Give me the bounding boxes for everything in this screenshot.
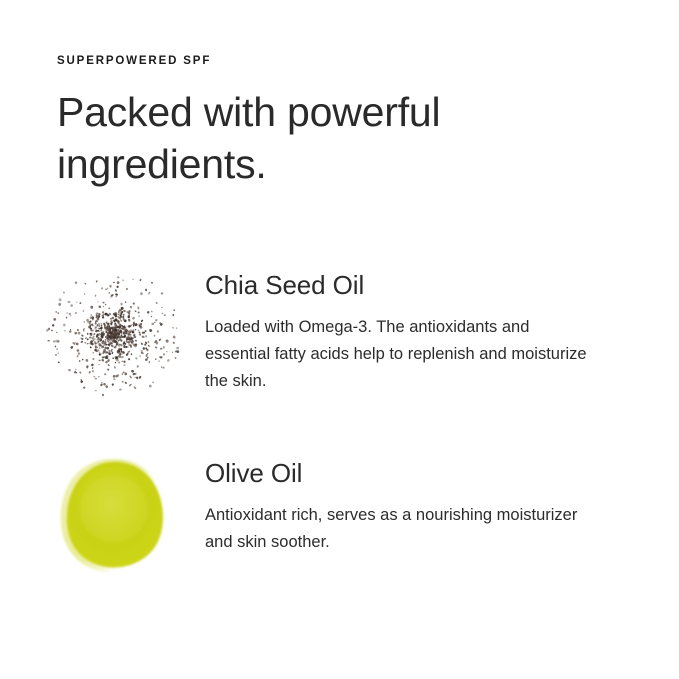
chia-seed (116, 285, 119, 288)
chia-seed (166, 351, 168, 353)
chia-seed (99, 326, 103, 330)
chia-seed (87, 343, 89, 345)
chia-seed (174, 357, 176, 359)
chia-seed (107, 368, 110, 371)
chia-seed (93, 376, 96, 378)
chia-seed (80, 380, 83, 383)
chia-seed (132, 279, 134, 281)
chia-seed (136, 365, 139, 368)
chia-seed (82, 359, 84, 361)
chia-seed (83, 321, 85, 323)
chia-seed (138, 315, 140, 317)
chia-seed (172, 341, 175, 344)
chia-seed (58, 303, 61, 307)
ingredient-description: Antioxidant rich, serves as a nourishing… (205, 502, 597, 555)
chia-seed (100, 329, 102, 332)
chia-seed (172, 327, 174, 329)
chia-seed (121, 373, 123, 375)
chia-seed (87, 333, 89, 335)
chia-seed (151, 316, 152, 318)
chia-seed (176, 327, 178, 329)
chia-seed (102, 394, 104, 397)
chia-seed (137, 329, 139, 331)
chia-seed (109, 285, 112, 288)
chia-seed (97, 301, 99, 303)
chia-seed (162, 366, 164, 369)
chia-seed (114, 362, 116, 364)
chia-seed (161, 366, 163, 368)
chia-seed (74, 331, 78, 335)
chia-seed (121, 307, 124, 310)
chia-seed (121, 360, 123, 362)
chia-seed (101, 287, 104, 290)
chia-seed (80, 341, 83, 344)
chia-seed (146, 354, 148, 357)
chia-seed (176, 347, 179, 350)
chia-seed (89, 336, 91, 338)
chia-seed (154, 321, 156, 323)
chia-seed (163, 353, 166, 356)
chia-seed (130, 353, 132, 355)
ingredient-title: Chia Seed Oil (205, 270, 640, 301)
chia-seed (70, 304, 73, 307)
chia-seed (118, 361, 120, 363)
chia-seed (70, 346, 74, 350)
chia-seed (125, 301, 127, 303)
chia-seed (166, 358, 170, 362)
chia-seed (138, 332, 140, 334)
chia-seed (149, 385, 152, 388)
chia-seed (98, 360, 100, 362)
chia-seed (58, 298, 62, 302)
chia-seed (139, 355, 141, 357)
chia-seed (135, 357, 138, 360)
ingredient-thumbnail (40, 452, 205, 582)
chia-seed (96, 312, 99, 314)
chia-seed (99, 352, 101, 354)
chia-seed (51, 324, 54, 327)
ingredient-title: Olive Oil (205, 458, 640, 489)
chia-seed (83, 310, 84, 312)
chia-seed (74, 312, 77, 315)
chia-seed (85, 359, 88, 362)
page-header: SUPERPOWERED SPF Packed with powerful in… (57, 55, 617, 191)
chia-seed (148, 341, 150, 343)
chia-seed (158, 360, 160, 362)
chia-seed (161, 292, 164, 295)
chia-seed (53, 318, 57, 322)
chia-seed (106, 347, 109, 350)
chia-seed (161, 307, 163, 308)
chia-seed (65, 316, 67, 318)
chia-seed (131, 369, 135, 373)
chia-seed (161, 312, 163, 314)
chia-seed (108, 292, 110, 294)
chia-seed (151, 281, 154, 284)
chia-seed (145, 335, 147, 338)
chia-seed (140, 319, 143, 322)
chia-seed (98, 323, 100, 325)
chia-seed (98, 305, 101, 308)
chia-seed (158, 338, 161, 341)
chia-seed (63, 291, 65, 293)
oil-droplet-sheen (80, 476, 148, 542)
chia-seed (132, 316, 136, 320)
chia-seed (92, 358, 95, 361)
chia-seed (95, 378, 98, 380)
chia-seed (67, 301, 70, 303)
chia-seed (151, 323, 154, 326)
chia-seed (129, 305, 132, 308)
olive-oil-droplet-image (58, 457, 170, 575)
chia-seed (101, 356, 104, 359)
chia-seed (119, 388, 122, 390)
chia-seed (155, 319, 158, 322)
chia-seed (84, 293, 86, 295)
chia-seed (92, 367, 94, 369)
chia-seed (156, 330, 159, 333)
chia-seed (154, 335, 156, 337)
chia-seed (68, 312, 71, 315)
chia-seed (176, 350, 179, 353)
chia-seed (76, 301, 78, 303)
chia-seed (173, 309, 176, 312)
chia-seed (90, 314, 92, 316)
chia-seed (148, 344, 151, 347)
chia-seed (139, 278, 142, 281)
chia-seed (137, 311, 139, 313)
chia-seed (79, 371, 82, 374)
ingredient-thumbnail (40, 262, 205, 412)
chia-seed (91, 363, 94, 367)
chia-seed (141, 335, 144, 338)
chia-seed (112, 357, 114, 359)
chia-seed (148, 361, 150, 363)
chia-seed (94, 322, 97, 325)
chia-seed (83, 328, 85, 330)
chia-seed (122, 371, 124, 373)
chia-seed (135, 329, 137, 331)
chia-seed (133, 302, 135, 304)
chia-seed (108, 307, 110, 309)
chia-seed (98, 364, 100, 366)
chia-seed (56, 348, 58, 351)
chia-seed (93, 333, 96, 336)
chia-seed (172, 314, 174, 317)
chia-seed (105, 385, 108, 388)
chia-seed (55, 354, 58, 357)
chia-seed (160, 348, 163, 350)
ingredient-item-olive-oil: Olive Oil Antioxidant rich, serves as a … (40, 452, 640, 582)
chia-seed (74, 281, 78, 285)
chia-seed (121, 356, 124, 358)
chia-seed (76, 349, 79, 352)
chia-seed (123, 364, 126, 366)
chia-seed (84, 283, 86, 285)
chia-seed (146, 311, 149, 314)
chia-seed (117, 276, 120, 278)
chia-seed (57, 312, 60, 315)
chia-seed (77, 331, 80, 334)
chia-seed (83, 386, 86, 389)
chia-seed (63, 323, 66, 326)
chia-seed (111, 352, 113, 355)
chia-seed (140, 292, 144, 296)
ingredient-description: Loaded with Omega-3. The antioxidants an… (205, 314, 597, 394)
chia-seed (123, 360, 126, 363)
chia-seed (152, 381, 154, 383)
chia-seed (163, 346, 165, 349)
chia-seed (102, 311, 105, 314)
chia-seed (83, 330, 85, 332)
chia-seed (51, 330, 53, 332)
ingredient-text-block: Chia Seed Oil Loaded with Omega-3. The a… (205, 262, 640, 394)
chia-seed (123, 313, 125, 315)
eyebrow-label: SUPERPOWERED SPF (57, 55, 617, 69)
chia-seed (164, 314, 166, 316)
chia-seed-pile-image (40, 262, 205, 412)
chia-seed (98, 376, 100, 378)
chia-seed (84, 341, 87, 344)
chia-seed (57, 352, 59, 354)
ingredient-item-chia-seed-oil: Chia Seed Oil Loaded with Omega-3. The a… (40, 262, 640, 412)
page-title: Packed with powerful ingredients. (57, 86, 477, 191)
chia-seed (68, 369, 71, 372)
chia-seed (120, 303, 123, 306)
chia-seed (133, 386, 136, 389)
chia-seed (94, 294, 96, 297)
chia-seed (116, 281, 120, 285)
chia-seed (155, 358, 157, 360)
chia-seed (173, 335, 176, 338)
chia-seed (95, 389, 97, 391)
chia-seed (141, 331, 144, 334)
chia-seed (76, 342, 79, 345)
chia-seed (133, 329, 135, 331)
chia-seed (135, 340, 138, 342)
chia-seed (89, 371, 91, 374)
chia-seed (95, 280, 97, 283)
chia-seed (101, 358, 104, 362)
chia-seed (139, 333, 142, 336)
chia-seed (140, 350, 143, 352)
chia-seed (77, 352, 81, 356)
chia-seed (123, 310, 126, 313)
chia-seed (101, 323, 102, 325)
chia-seed (124, 372, 127, 375)
chia-seed (134, 310, 136, 312)
chia-seed (90, 306, 93, 309)
chia-seed (151, 310, 153, 312)
chia-seed (120, 320, 122, 322)
chia-seed (172, 351, 173, 353)
chia-seed (121, 380, 124, 382)
chia-seed (79, 360, 81, 362)
chia-seed (104, 373, 107, 376)
chia-seed (113, 375, 116, 378)
chia-seed (101, 382, 103, 384)
chia-seed (145, 289, 148, 292)
chia-seed (75, 369, 77, 371)
chia-seed (138, 375, 141, 379)
chia-seed (92, 352, 94, 354)
chia-seed (100, 383, 104, 387)
chia-seed (102, 306, 104, 308)
chia-seed (56, 331, 58, 333)
chia-seed (122, 279, 125, 281)
ingredient-text-block: Olive Oil Antioxidant rich, serves as a … (205, 452, 640, 556)
chia-seed (47, 340, 49, 342)
chia-seed (99, 347, 101, 348)
chia-seed (142, 347, 145, 350)
chia-seed (155, 302, 158, 305)
chia-seed (165, 339, 169, 343)
chia-seed (76, 355, 78, 358)
chia-seed (140, 352, 143, 355)
chia-seed (85, 337, 87, 339)
chia-seed (124, 381, 127, 384)
chia-seed (70, 315, 72, 317)
chia-seed (64, 330, 66, 332)
chia-seed (77, 329, 79, 331)
chia-seed (105, 304, 107, 306)
chia-seed (155, 346, 158, 348)
chia-seed (102, 302, 104, 304)
chia-seed (115, 289, 117, 292)
chia-seed (91, 370, 94, 373)
chia-seed (111, 383, 114, 386)
chia-seed (94, 328, 97, 331)
chia-seed (81, 334, 84, 337)
chia-seed (55, 311, 57, 313)
chia-seed (107, 364, 110, 367)
chia-seed (54, 345, 56, 347)
chia-seed (137, 306, 139, 309)
chia-seed (66, 312, 68, 314)
ingredients-page: SUPERPOWERED SPF Packed with powerful in… (0, 0, 679, 679)
chia-seed (126, 288, 128, 290)
chia-seed (58, 361, 60, 363)
chia-seed (113, 378, 116, 380)
chia-seed (113, 282, 115, 284)
chia-seed (103, 383, 106, 386)
chia-seed (128, 358, 131, 361)
chia-seed (114, 366, 116, 369)
chia-seed (89, 346, 92, 349)
